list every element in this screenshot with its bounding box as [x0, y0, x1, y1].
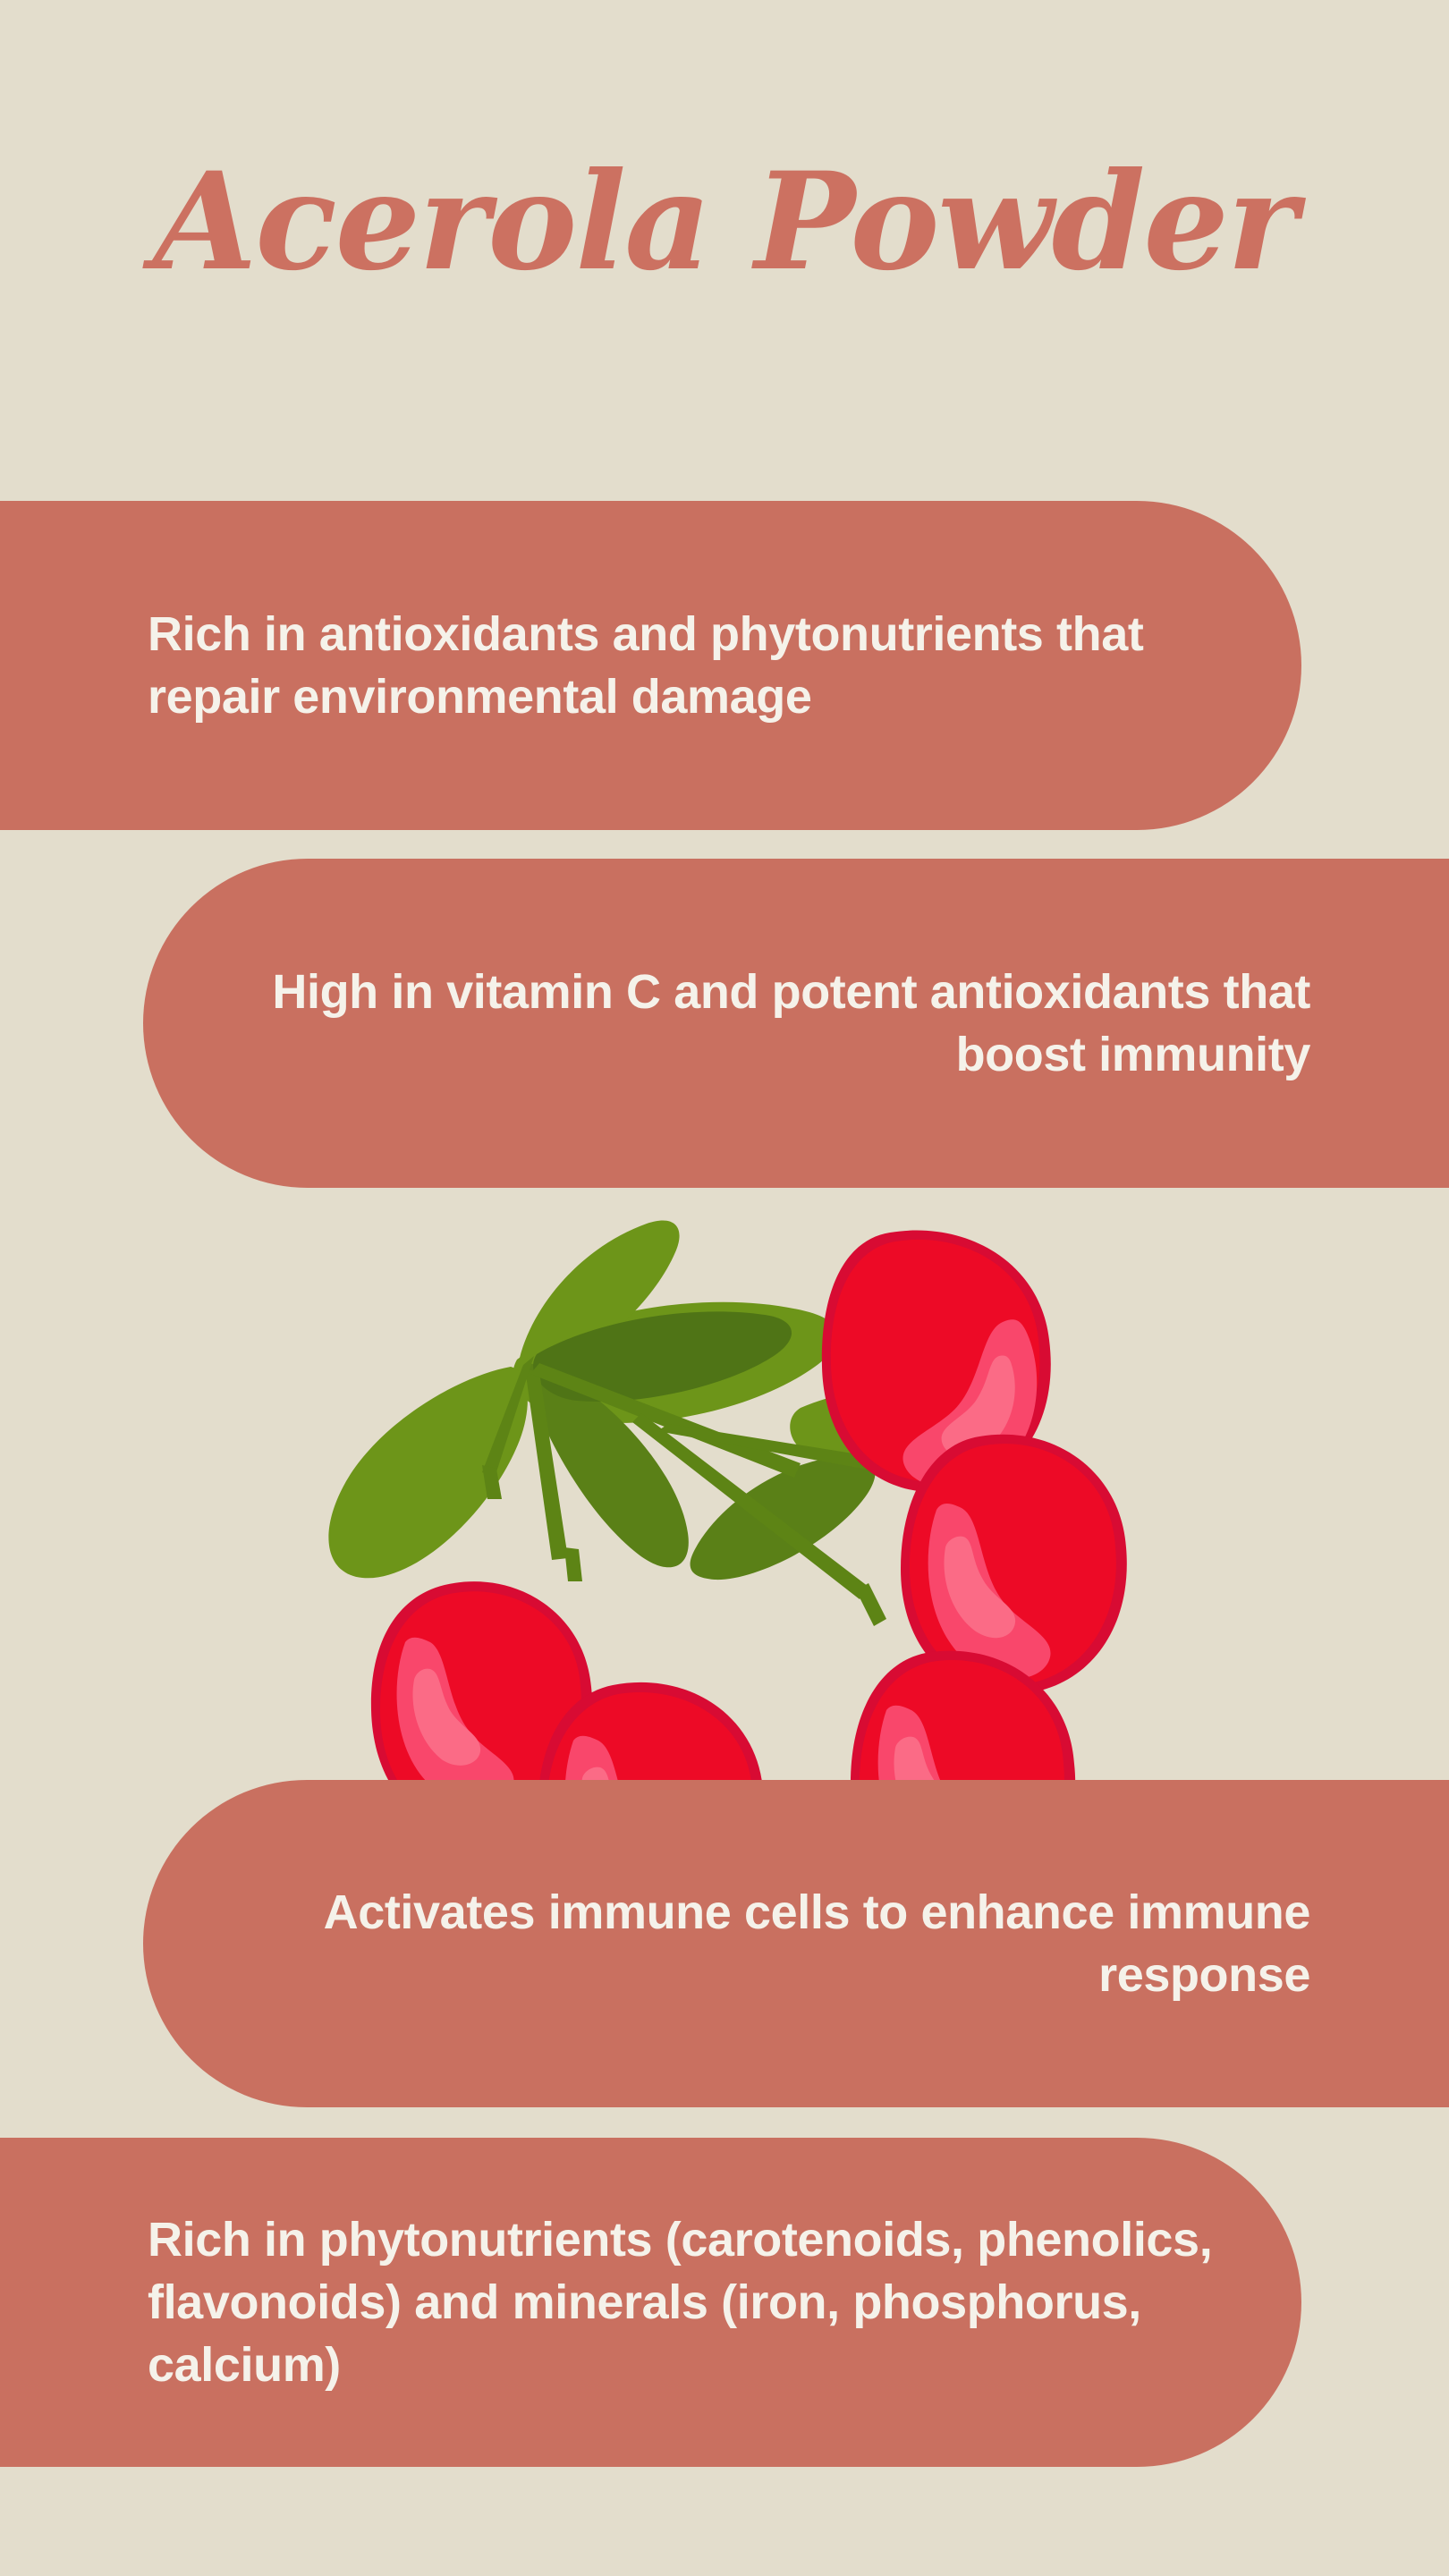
- stem-tip-center: [564, 1547, 582, 1581]
- benefit-text: Rich in phytonutrients (carotenoids, phe…: [0, 2208, 1301, 2397]
- benefit-text: High in vitamin C and potent antioxidant…: [143, 961, 1449, 1086]
- benefit-banner-immune-cell-activation: Activates immune cells to enhance immune…: [143, 1780, 1449, 2107]
- acerola-cherry-svg: [300, 1197, 1131, 1787]
- benefit-banner-vitamin-c-immunity: High in vitamin C and potent antioxidant…: [143, 859, 1449, 1188]
- stem-tip-bottom-right: [856, 1583, 886, 1626]
- acerola-cherry-cluster-illustration: [300, 1197, 1131, 1787]
- benefit-banner-antioxidants-phytonutrients: Rich in antioxidants and phytonutrients …: [0, 501, 1301, 830]
- benefit-banner-phytonutrients-minerals: Rich in phytonutrients (carotenoids, phe…: [0, 2138, 1301, 2467]
- leaf-left: [328, 1367, 527, 1578]
- benefit-text: Rich in antioxidants and phytonutrients …: [0, 603, 1301, 728]
- benefit-text: Activates immune cells to enhance immune…: [143, 1881, 1449, 2006]
- infographic-page: Acerola Powder Rich in antioxidants and …: [0, 0, 1449, 2576]
- page-title: Acerola Powder: [0, 143, 1449, 301]
